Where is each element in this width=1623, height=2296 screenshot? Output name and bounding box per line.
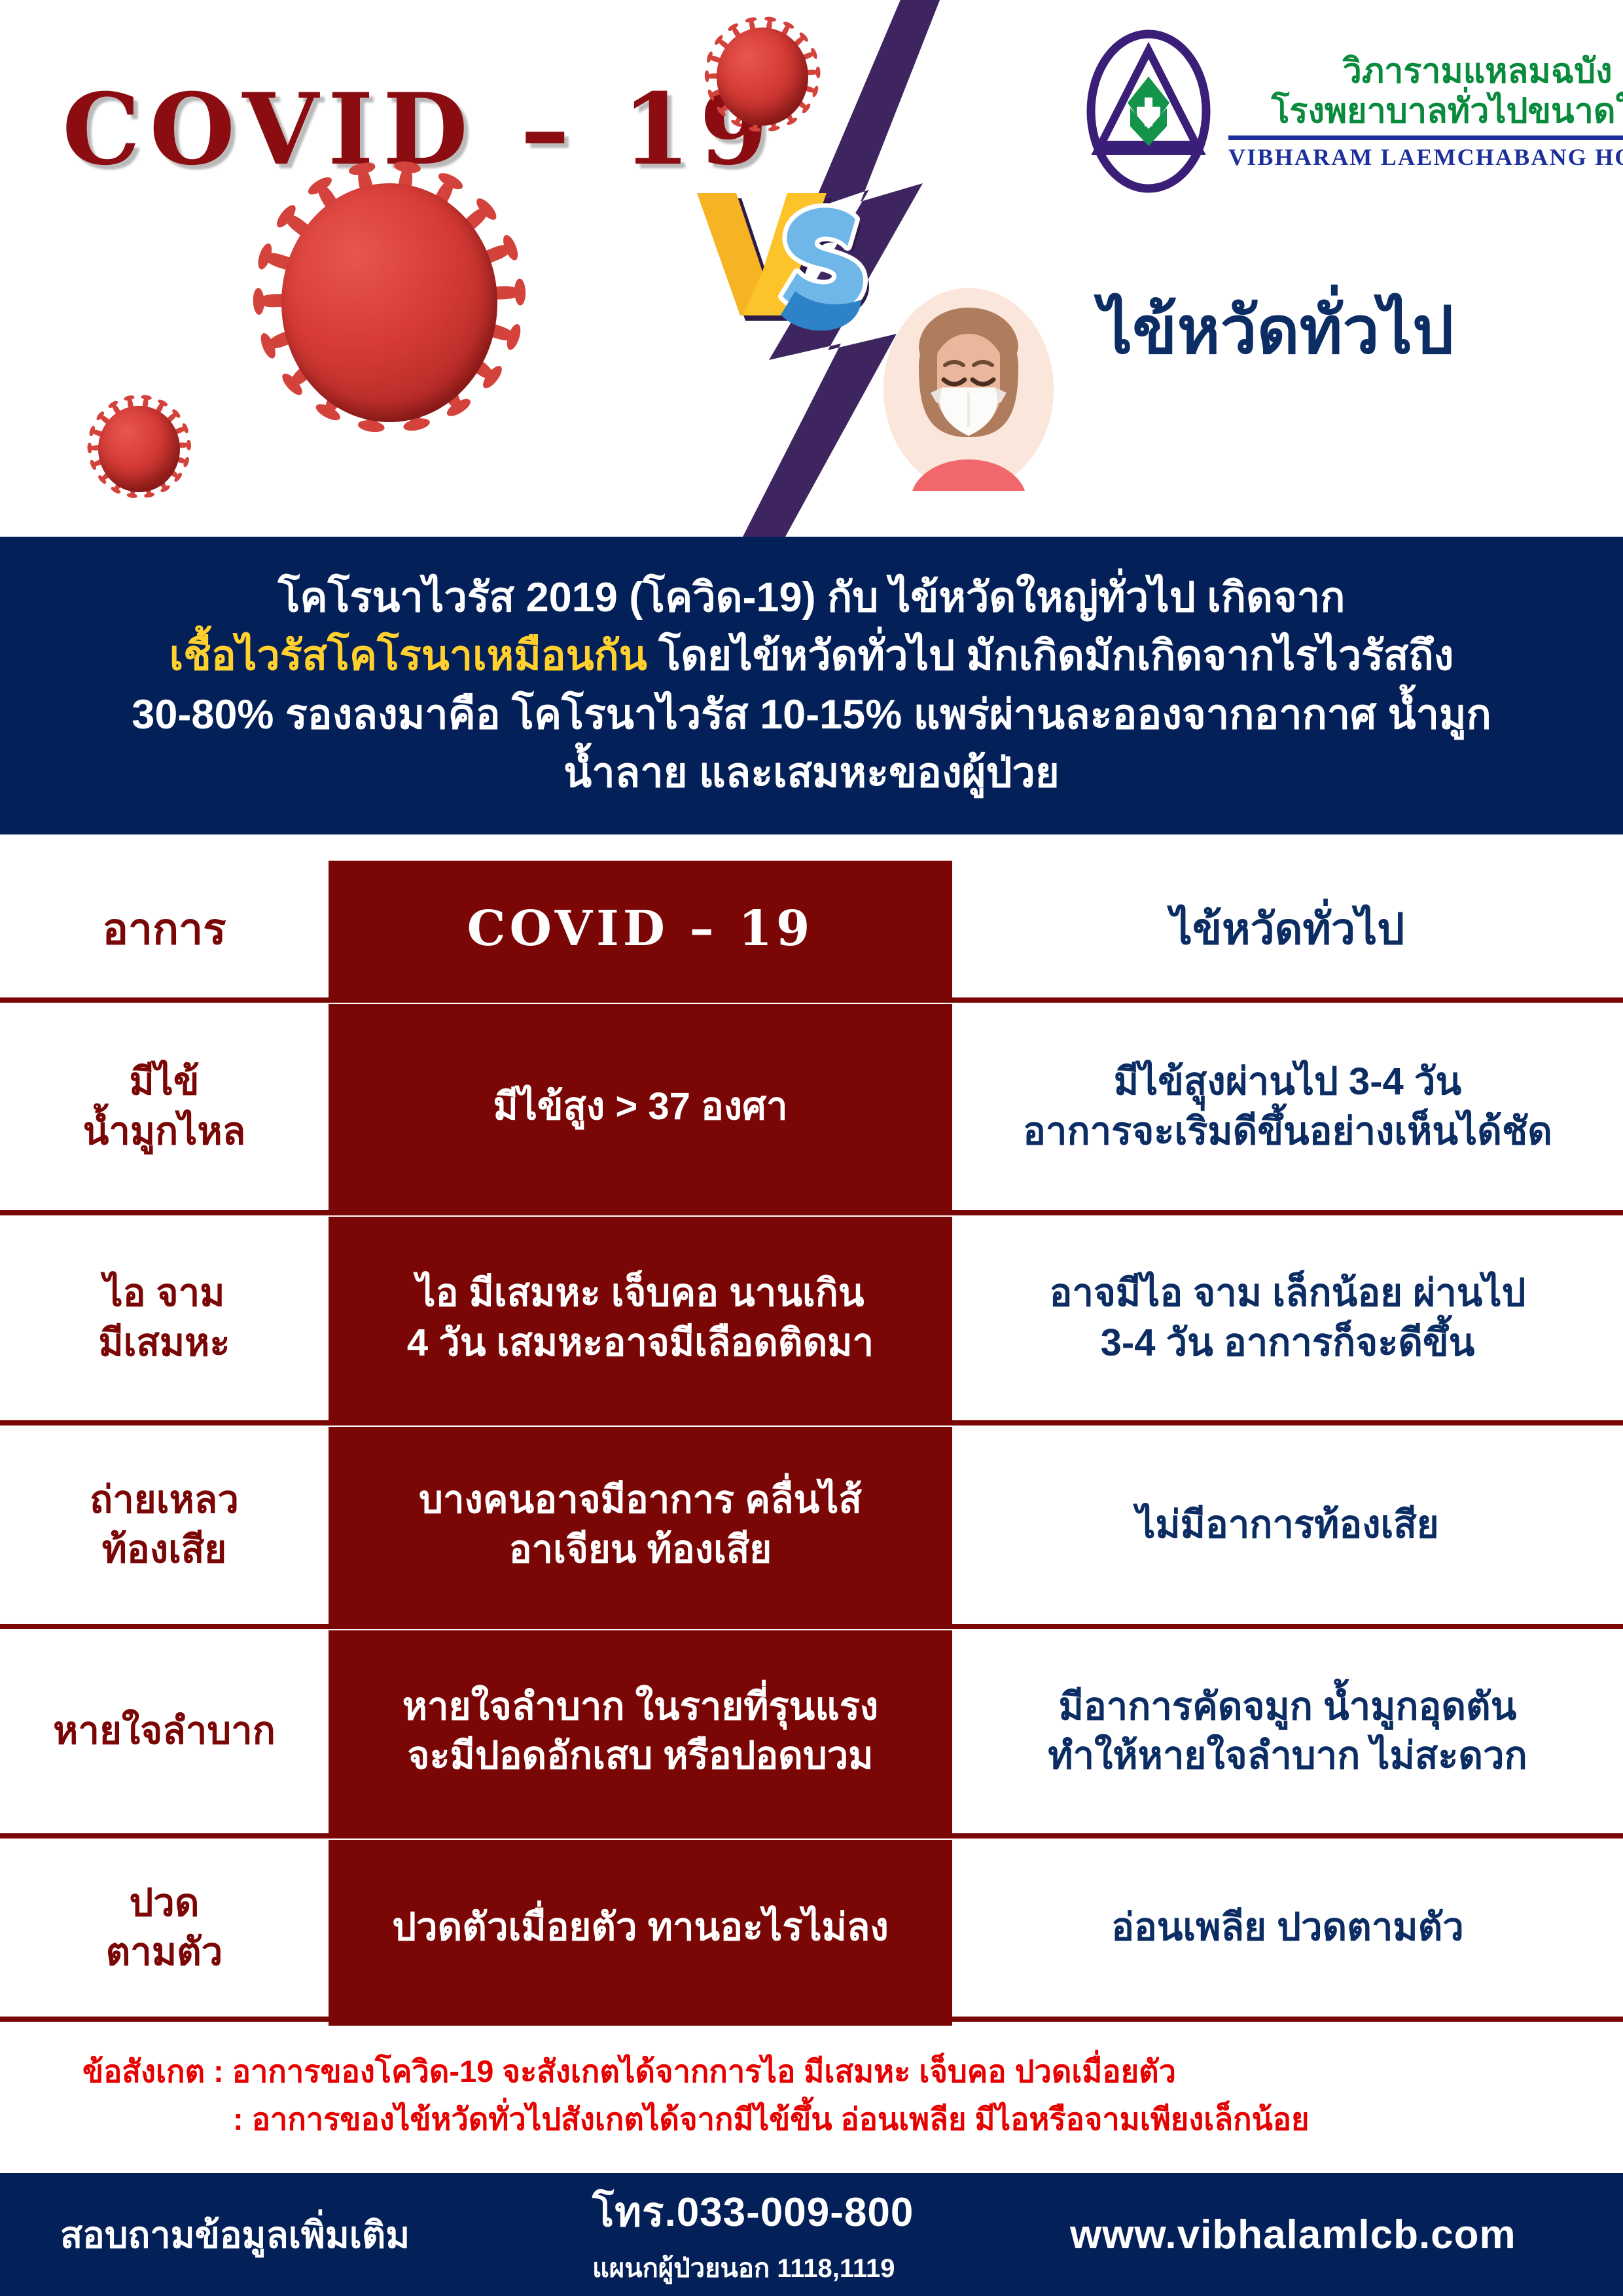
row-divider — [0, 1210, 1623, 1215]
covid-line-2: อาเจียน ท้องเสีย — [419, 1525, 862, 1574]
intro-line-1: โคโรนาไวรัส 2019 (โควิด-19) กับ ไข้หวัดใ… — [278, 569, 1346, 627]
virus-body — [281, 183, 497, 422]
footer-telephone[interactable]: โทร.033-009-800 — [592, 2180, 914, 2244]
symptom-line-2: ท้องเสีย — [90, 1525, 239, 1574]
vs-badge — [690, 180, 887, 334]
covid-line-2: 4 วัน เสมหะอาจมีเลือดติดมา — [407, 1318, 874, 1367]
cell-flu: อาจมีไอ จาม เล็กน้อย ผ่านไป3-4 วัน อาการ… — [952, 1215, 1623, 1420]
flu-title: ไข้หวัดทั่วไป — [1099, 278, 1454, 382]
footer-ask-label: สอบถามข้อมูลเพิ่มเติม — [60, 2206, 410, 2264]
footer-bar: สอบถามข้อมูลเพิ่มเติม โทร.033-009-800 แผ… — [0, 2173, 1623, 2296]
coronavirus-icon — [281, 183, 497, 422]
flu-line-1: ไม่มีอาการท้องเสีย — [1136, 1500, 1438, 1549]
row-divider — [0, 1420, 1623, 1426]
intro-line-2-rest: โดยไข้หวัดทั่วไป มักเกิดมักเกิดจากไรไวรั… — [647, 633, 1454, 679]
row-divider — [0, 1833, 1623, 1839]
intro-line-3: 30-80% รองลงมาคือ โคโรนาไวรัส 10-15% แพร… — [132, 686, 1491, 744]
flu-line-1: อาจมีไอ จาม เล็กน้อย ผ่านไป — [1050, 1268, 1526, 1318]
intro-line-2: เชื้อไวรัสโคโรนาเหมือนกัน โดยไข้หวัดทั่ว… — [169, 627, 1454, 685]
covid-line-1: มีไข้สูง > 37 องศา — [493, 1082, 787, 1131]
symptom-line-2: น้ำมูกไหล — [83, 1107, 246, 1156]
cell-flu: อ่อนเพลีย ปวดตามตัว — [952, 1839, 1623, 2017]
symptom-line-1: มีไข้ — [83, 1057, 246, 1106]
cell-symptom: หายใจลำบาก — [0, 1629, 329, 1833]
flu-line-1: อ่อนเพลีย ปวดตามตัว — [1111, 1903, 1464, 1952]
header-symptom: อาการ — [0, 861, 329, 997]
logo-divider — [1228, 135, 1623, 140]
cell-covid: มีไข้สูง > 37 องศา — [329, 1003, 952, 1210]
covid-line-1: ไอ มีเสมหะ เจ็บคอ นานเกิน — [407, 1268, 874, 1318]
coronavirus-icon — [98, 406, 180, 492]
flu-line-1: มีอาการคัดจมูก น้ำมูกอุดตัน — [1048, 1682, 1527, 1731]
covid-line-1: ปวดตัวเมื่อยตัว ทานอะไรไม่ลง — [392, 1903, 889, 1952]
cell-symptom: ไอ จามมีเสมหะ — [0, 1215, 329, 1420]
symptom-line-1: ไอ จาม — [98, 1268, 230, 1318]
flu-line-2: อาการจะเริ่มดีขึ้นอย่างเห็นได้ชัด — [1023, 1107, 1552, 1156]
table-header-row: อาการ COVID – 19 ไข้หวัดทั่วไป — [0, 861, 1623, 997]
footer-website[interactable]: www.vibhalamlcb.com — [1070, 2212, 1516, 2258]
symptom-line-2: มีเสมหะ — [98, 1318, 230, 1367]
cell-flu: มีอาการคัดจมูก น้ำมูกอุดตันทำให้หายใจลำบ… — [952, 1629, 1623, 1833]
comparison-table: อาการ COVID – 19 ไข้หวัดทั่วไป มีไข้น้ำม… — [0, 834, 1623, 2026]
header-covid: COVID – 19 — [329, 861, 952, 997]
table-row: ไอ จามมีเสมหะ ไอ มีเสมหะ เจ็บคอ นานเกิน4… — [0, 1215, 1623, 1420]
cell-symptom: ถ่ายเหลวท้องเสีย — [0, 1426, 329, 1624]
logo-thai-line2: โรงพยาบาลทั่วไปขนาดใหญ่ — [1228, 92, 1623, 132]
logo-thai-line1: วิภารามแหลมฉบัง — [1228, 52, 1623, 92]
covid-line-1: หายใจลำบาก ในรายที่รุนแรง — [402, 1682, 878, 1731]
row-divider — [0, 2017, 1623, 2022]
row-divider — [0, 1624, 1623, 1629]
symptom-line-1: หายใจลำบาก — [53, 1706, 276, 1755]
row-divider — [0, 997, 1623, 1003]
note-line-2: : อาการของไข้หวัดทั่วไปสังเกตได้จากมีไข้… — [46, 2096, 1577, 2144]
table-row: ถ่ายเหลวท้องเสีย บางคนอาจมีอาการ คลื่นไส… — [0, 1426, 1623, 1624]
cell-covid: บางคนอาจมีอาการ คลื่นไส้อาเจียน ท้องเสีย — [329, 1426, 952, 1624]
intro-banner: โคโรนาไวรัส 2019 (โควิด-19) กับ ไข้หวัดใ… — [0, 537, 1623, 834]
intro-highlight: เชื้อไวรัสโคโรนาเหมือนกัน — [169, 633, 647, 679]
table-row: มีไข้น้ำมูกไหล มีไข้สูง > 37 องศา มีไข้ส… — [0, 1003, 1623, 1210]
virus-body — [98, 406, 180, 492]
cell-symptom: มีไข้น้ำมูกไหล — [0, 1003, 329, 1210]
notes-section: ข้อสังเกต : อาการของโควิด-19 จะสังเกตได้… — [0, 2026, 1623, 2173]
covid-line-1: บางคนอาจมีอาการ คลื่นไส้ — [419, 1475, 862, 1524]
covid-line-2: จะมีปอดอักเสบ หรือปอดบวม — [402, 1731, 878, 1780]
header-flu: ไข้หวัดทั่วไป — [952, 861, 1623, 997]
table-row: ปวดตามตัว ปวดตัวเมื่อยตัว ทานอะไรไม่ลง อ… — [0, 1839, 1623, 2017]
cell-covid: หายใจลำบาก ในรายที่รุนแรงจะมีปอดอักเสบ ห… — [329, 1629, 952, 1833]
footer-department: แผนกผู้ป่วยนอก 1118,1119 — [592, 2247, 914, 2289]
cell-flu: ไม่มีอาการท้องเสีย — [952, 1426, 1623, 1624]
symptom-line-2: ตามตัว — [106, 1928, 223, 1977]
footer-contact: โทร.033-009-800 แผนกผู้ป่วยนอก 1118,1119 — [592, 2180, 914, 2289]
intro-line-4: น้ำลาย และเสมหะของผู้ป่วย — [563, 744, 1060, 802]
cell-symptom: ปวดตามตัว — [0, 1839, 329, 2017]
symptom-line-1: ปวด — [106, 1878, 223, 1928]
flu-line-2: 3-4 วัน อาการก็จะดีขึ้น — [1050, 1318, 1526, 1367]
cell-flu: มีไข้สูงผ่านไป 3-4 วันอาการจะเริ่มดีขึ้น… — [952, 1003, 1623, 1210]
table-row: หายใจลำบาก หายใจลำบาก ในรายที่รุนแรงจะมี… — [0, 1629, 1623, 1833]
logo-english-name: VIBHARAM LAEMCHABANG HOSPITAL — [1228, 143, 1623, 171]
note-line-1: ข้อสังเกต : อาการของโควิด-19 จะสังเกตได้… — [46, 2048, 1577, 2096]
flu-line-2: ทำให้หายใจลำบาก ไม่สะดวก — [1048, 1731, 1527, 1780]
cell-covid: ปวดตัวเมื่อยตัว ทานอะไรไม่ลง — [329, 1839, 952, 2017]
masked-woman-icon — [877, 288, 1060, 491]
hero-section: COVID – 19 — [0, 0, 1623, 537]
hospital-logo-mark — [1083, 29, 1214, 193]
flu-line-1: มีไข้สูงผ่านไป 3-4 วัน — [1023, 1057, 1552, 1106]
hospital-logo: วิภารามแหลมฉบัง โรงพยาบาลทั่วไปขนาดใหญ่ … — [1083, 29, 1623, 193]
symptom-line-1: ถ่ายเหลว — [90, 1475, 239, 1524]
cell-covid: ไอ มีเสมหะ เจ็บคอ นานเกิน4 วัน เสมหะอาจม… — [329, 1215, 952, 1420]
